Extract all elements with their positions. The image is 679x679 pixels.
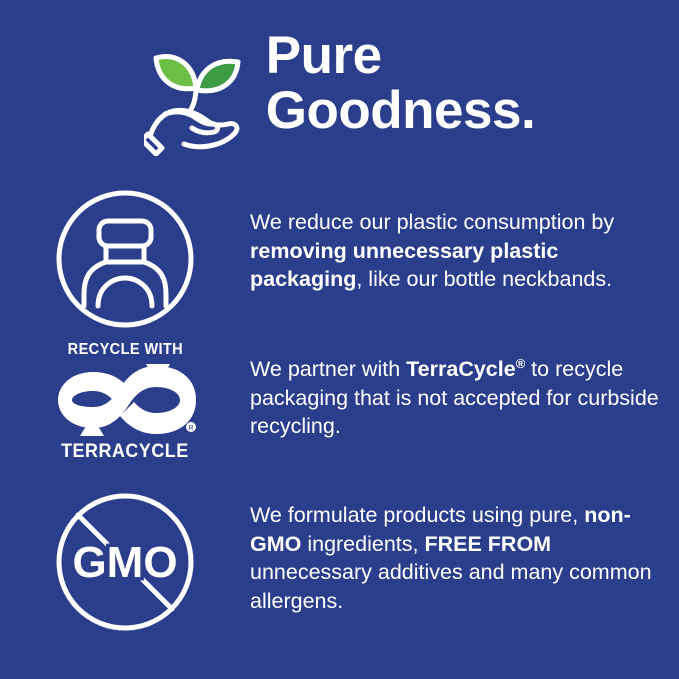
terracycle-infinity-loop-icon: R: [50, 362, 200, 438]
text-segment-bold: FREE FROM: [424, 532, 551, 556]
hand-holding-sprout-icon: [144, 40, 252, 156]
feature-text-terracycle: We partner with TerraCycle® to recycle p…: [250, 355, 661, 441]
feature-text-cell: We reduce our plastic consumption by rem…: [250, 186, 679, 294]
bottle-no-neckband-icon: [54, 188, 196, 335]
feature-text-cell: We formulate products using pure, non-GM…: [250, 489, 679, 615]
feature-row-terracycle: RECYCLE WITH R: [0, 341, 679, 489]
feature-icon-cell: GMO: [0, 489, 250, 638]
brand-header: Pure Goodness.: [0, 28, 679, 158]
gmo-label: GMO: [72, 538, 177, 587]
terracycle-badge: RECYCLE WITH R: [49, 341, 201, 463]
text-segment: We partner with: [250, 357, 406, 381]
feature-icon-cell: RECYCLE WITH R: [0, 341, 250, 463]
feature-text-gmo: We formulate products using pure, non-GM…: [250, 501, 661, 615]
svg-text:R: R: [188, 425, 193, 432]
feature-row-plastic: We reduce our plastic consumption by rem…: [0, 186, 679, 341]
registered-mark: ®: [516, 356, 526, 371]
text-segment: We formulate products using pure,: [250, 503, 584, 527]
no-gmo-icon: GMO: [54, 491, 196, 638]
terracycle-top-label: RECYCLE WITH: [67, 341, 182, 359]
text-segment: ingredients,: [301, 532, 424, 556]
feature-list: We reduce our plastic consumption by rem…: [0, 186, 679, 639]
page-title: Pure Goodness.: [266, 28, 535, 138]
terracycle-bottom-label: TERRACYCLE: [61, 441, 189, 463]
feature-text-cell: We partner with TerraCycle® to recycle p…: [250, 341, 679, 441]
feature-row-gmo: GMO We formulate products using pure, no…: [0, 489, 679, 639]
feature-text-plastic: We reduce our plastic consumption by rem…: [250, 208, 661, 294]
feature-icon-cell: [0, 186, 250, 335]
promo-panel: Pure Goodness.: [0, 0, 679, 679]
text-segment-bold: TerraCycle: [406, 357, 516, 381]
text-segment: unnecessary additives and many common al…: [250, 560, 652, 613]
text-segment: , like our bottle neckbands.: [356, 267, 612, 291]
text-segment: We reduce our plastic consumption by: [250, 210, 614, 234]
